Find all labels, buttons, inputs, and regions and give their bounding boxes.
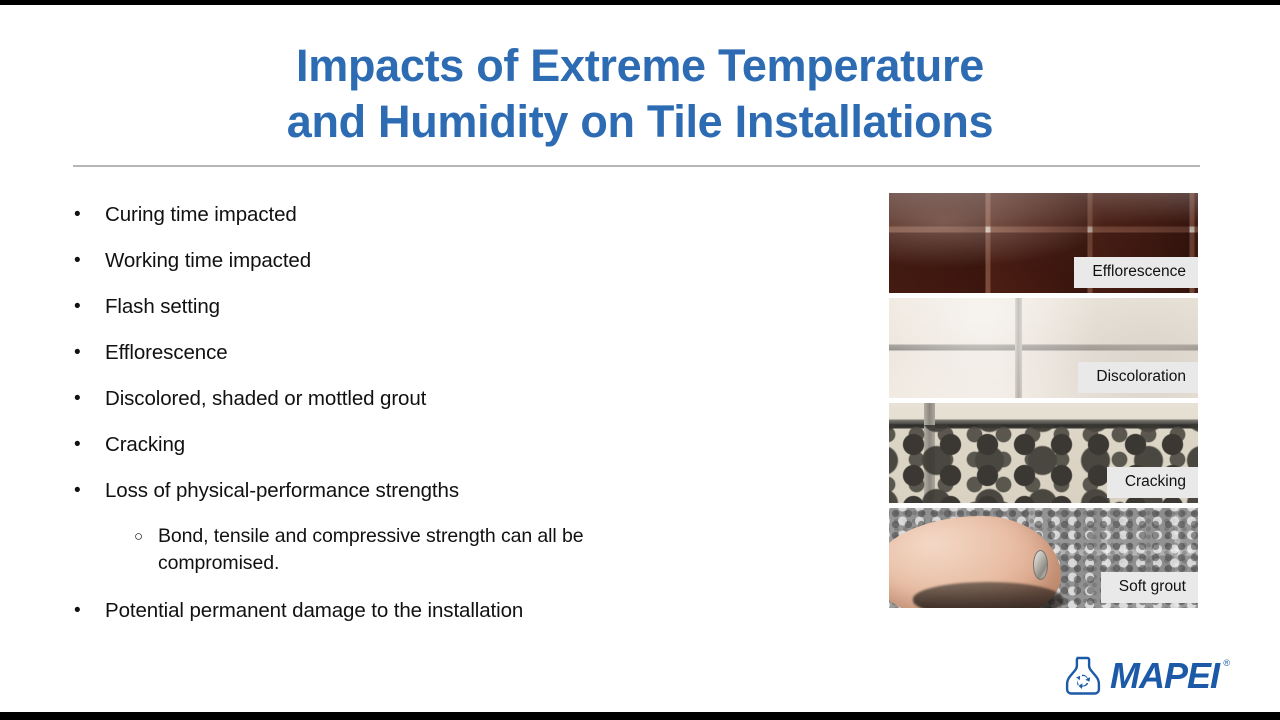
list-item: • Flash setting: [70, 293, 850, 321]
bullet-marker-icon: •: [70, 597, 105, 625]
list-item: • Loss of physical-performance strengths: [70, 477, 850, 505]
slide-root: Impacts of Extreme Temperature and Humid…: [0, 0, 1280, 720]
list-item: • Discolored, shaded or mottled grout: [70, 385, 850, 413]
list-item-label: Efflorescence: [105, 339, 228, 367]
photo-strip: Efflorescence Discoloration Cracking Sof…: [889, 193, 1198, 608]
list-item-label: Discolored, shaded or mottled grout: [105, 385, 426, 413]
mapei-bag-swirl-icon: [1058, 652, 1106, 700]
bullet-marker-icon: •: [70, 247, 105, 275]
photo-caption: Efflorescence: [1074, 257, 1198, 288]
photo-card-efflorescence: Efflorescence: [889, 193, 1198, 293]
mapei-wordmark: MAPEI ®: [1110, 656, 1219, 696]
sub-list-item: ○ Bond, tensile and compressive strength…: [70, 523, 850, 577]
sub-list-item-label: Bond, tensile and compressive strength c…: [158, 523, 633, 577]
bullet-marker-icon: •: [70, 201, 105, 229]
bullet-list: • Curing time impacted • Working time im…: [70, 201, 850, 625]
photo-card-soft-grout: Soft grout: [889, 508, 1198, 608]
list-item-label: Loss of physical-performance strengths: [105, 477, 459, 505]
photo-caption: Discoloration: [1078, 362, 1198, 393]
photo-caption: Soft grout: [1101, 572, 1198, 603]
list-item-label: Working time impacted: [105, 247, 311, 275]
page-title: Impacts of Extreme Temperature and Humid…: [0, 38, 1280, 150]
list-item: • Curing time impacted: [70, 201, 850, 229]
list-item-label: Curing time impacted: [105, 201, 297, 229]
list-item-label: Potential permanent damage to the instal…: [105, 597, 523, 625]
list-item-label: Cracking: [105, 431, 185, 459]
title-divider: [73, 165, 1200, 167]
photo-caption: Cracking: [1107, 467, 1198, 498]
list-item: • Potential permanent damage to the inst…: [70, 597, 850, 625]
bullet-marker-icon: •: [70, 431, 105, 459]
bullet-marker-icon: •: [70, 385, 105, 413]
registered-trademark-icon: ®: [1223, 658, 1230, 668]
list-item: • Cracking: [70, 431, 850, 459]
bullet-marker-icon: •: [70, 339, 105, 367]
mapei-wordmark-text: MAPEI: [1110, 655, 1219, 696]
photo-card-discoloration: Discoloration: [889, 298, 1198, 398]
mapei-logo: MAPEI ®: [1058, 650, 1243, 702]
sub-bullet-marker-icon: ○: [130, 523, 158, 550]
list-item: • Working time impacted: [70, 247, 850, 275]
title-line-1: Impacts of Extreme Temperature: [0, 38, 1280, 94]
list-item-label: Flash setting: [105, 293, 220, 321]
title-line-2: and Humidity on Tile Installations: [0, 94, 1280, 150]
photo-card-cracking: Cracking: [889, 403, 1198, 503]
bullet-marker-icon: •: [70, 293, 105, 321]
letterbox-bar-bottom: [0, 712, 1280, 720]
slide-canvas: Impacts of Extreme Temperature and Humid…: [0, 5, 1280, 712]
hand-shadow: [913, 582, 1063, 608]
coin-icon: [1033, 550, 1048, 580]
bullet-marker-icon: •: [70, 477, 105, 505]
list-item: • Efflorescence: [70, 339, 850, 367]
